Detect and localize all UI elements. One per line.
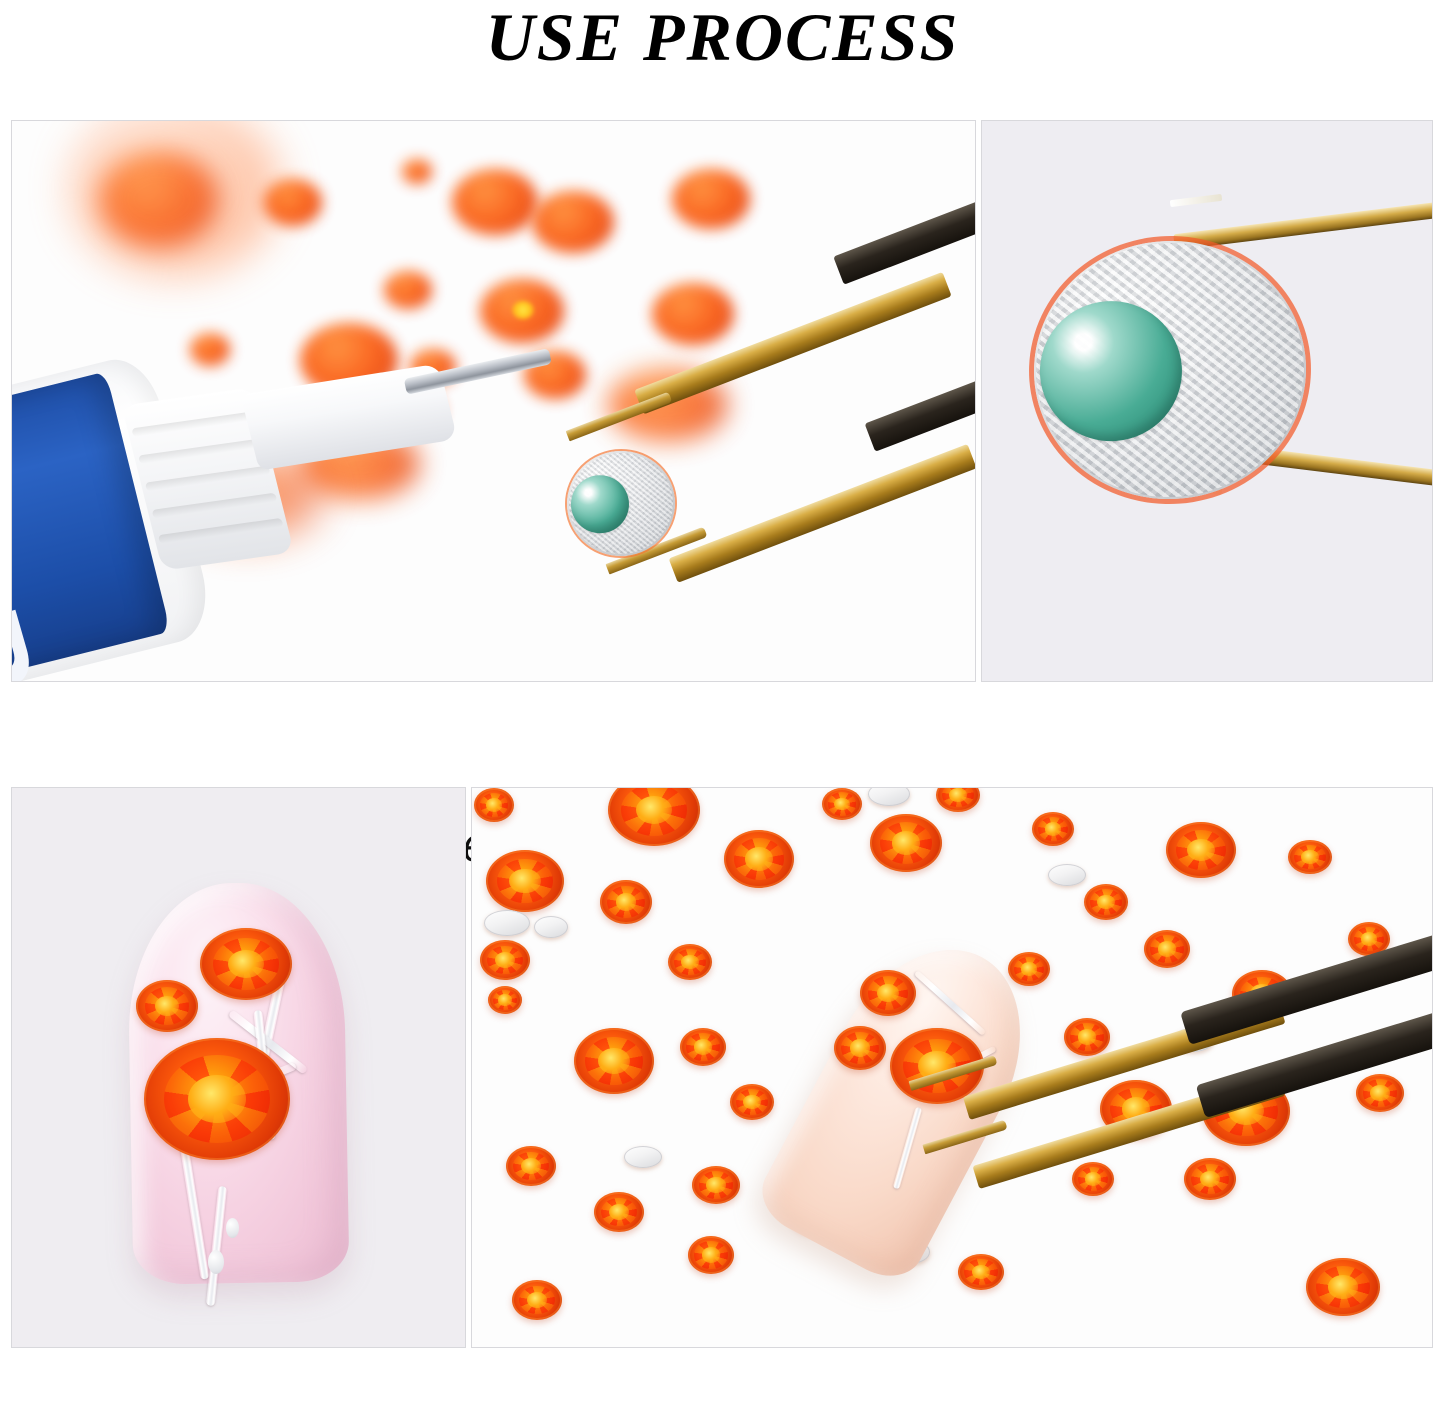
background-bokeh — [264, 179, 322, 226]
nail-rhinestone — [860, 970, 916, 1016]
scattered-rhinestone — [1144, 930, 1190, 968]
scattered-rhinestone — [1064, 1018, 1110, 1056]
scattered-rhinestone — [488, 986, 522, 1014]
scattered-rhinestone-flat-back — [534, 916, 568, 938]
scattered-rhinestone — [958, 1254, 1004, 1290]
scattered-rhinestone — [486, 850, 564, 912]
scattered-rhinestone — [1356, 1074, 1404, 1112]
glue-bottle: R R — [11, 268, 484, 682]
finished-nail-photo — [11, 787, 466, 1348]
scattered-rhinestone — [692, 1166, 740, 1204]
scattered-rhinestone — [512, 1280, 562, 1320]
nail-rhinestone-small — [136, 980, 198, 1032]
step-1-panel-row: R R — [0, 120, 1445, 682]
scattered-rhinestone — [1288, 840, 1332, 874]
scattered-rhinestone-flat-back — [624, 1146, 662, 1168]
scattered-rhinestone — [688, 1236, 734, 1274]
tweezer-upper-grip — [833, 194, 976, 285]
scattered-rhinestone — [870, 814, 942, 872]
background-bokeh — [100, 151, 218, 247]
nail-rhinestone-large-center — [144, 1038, 290, 1160]
scattered-rhinestone-flat-back — [484, 910, 530, 936]
page-title: USE PROCESS — [0, 0, 1445, 77]
scattered-rhinestone — [574, 1028, 654, 1094]
tweezer-lower-grip — [865, 370, 976, 452]
background-bokeh — [672, 169, 750, 229]
bottle-label-letter: R — [11, 467, 22, 583]
nail-art-dot — [208, 1250, 224, 1274]
scattered-rhinestone — [1306, 1258, 1380, 1316]
background-bokeh — [452, 169, 538, 235]
scattered-rhinestone — [680, 1028, 726, 1066]
background-bokeh — [532, 191, 614, 253]
rhinestone-with-glue — [562, 446, 680, 562]
rhinestone-closeup-photo — [981, 120, 1433, 682]
glue-application-photo: R R — [11, 120, 976, 682]
step-1-section: R R — [0, 120, 1445, 682]
scattered-rhinestone — [1072, 1162, 1114, 1196]
background-bokeh — [402, 159, 432, 184]
scattered-rhinestone — [822, 788, 862, 820]
tweezer-upper-edge — [1170, 194, 1222, 207]
scattered-rhinestone — [600, 880, 652, 924]
background-sparkle — [512, 301, 534, 319]
scattered-rhinestone — [608, 787, 700, 846]
nail-rhinestone-large-top — [200, 928, 292, 1000]
scattered-rhinestone — [936, 787, 980, 812]
nail-rhinestone — [834, 1026, 886, 1070]
scattered-rhinestone — [1184, 1158, 1236, 1200]
scattered-rhinestone — [480, 940, 530, 980]
step-2-panel-row — [0, 787, 1445, 1348]
scattered-rhinestone — [1166, 822, 1236, 878]
bottle-label-letter: R — [11, 597, 55, 682]
tweezer-lower-arm — [669, 444, 976, 583]
scattered-rhinestone — [1032, 812, 1074, 846]
nail-art-dot — [226, 1218, 239, 1238]
scattered-rhinestone — [1084, 884, 1128, 920]
scattered-rhinestone — [724, 830, 794, 888]
scattered-rhinestone-flat-back — [1048, 864, 1086, 886]
scattered-rhinestone — [730, 1084, 774, 1120]
scattered-rhinestone-flat-back — [868, 787, 910, 806]
scattered-rhinestone — [668, 944, 712, 980]
scattered-rhinestone — [594, 1192, 644, 1232]
scattered-rhinestone — [474, 788, 514, 822]
scattered-rhinestone — [1008, 952, 1050, 986]
rhinestone-with-glue — [1025, 232, 1314, 508]
scattered-rhinestone — [506, 1146, 556, 1186]
background-bokeh — [652, 283, 734, 345]
use-process-infographic: USE PROCESS — [0, 0, 1445, 1412]
step-2-section: #STEP 2:Put the rhinestone on the nail — [0, 787, 1445, 1348]
placing-rhinestone-photo — [471, 787, 1433, 1348]
